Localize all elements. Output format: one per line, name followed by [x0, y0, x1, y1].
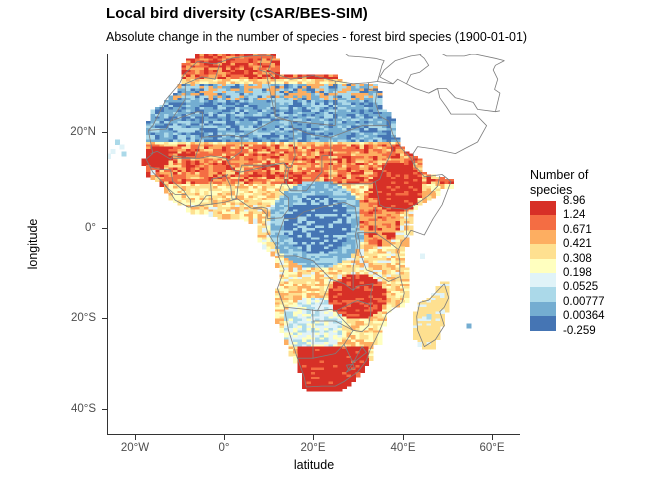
- africa-raster-map: [108, 54, 520, 434]
- raster-cell: [146, 172, 151, 177]
- raster-cell: [248, 219, 253, 224]
- raster-cell: [213, 212, 218, 217]
- raster-cell: [391, 302, 396, 307]
- raster-cell: [435, 191, 440, 196]
- plot-root: Local bird diversity (cSAR/BES-SIM) Abso…: [0, 0, 672, 480]
- raster-cell: [208, 212, 213, 217]
- map-panel: [108, 54, 520, 434]
- raster-cell: [275, 263, 280, 268]
- raster-cell: [253, 219, 258, 224]
- raster-cell: [271, 251, 276, 256]
- raster-cell: [409, 219, 414, 224]
- raster-cell: [191, 209, 196, 214]
- raster-cell: [386, 307, 391, 312]
- page-title: Local bird diversity (cSAR/BES-SIM): [106, 5, 368, 22]
- raster-cell: [200, 209, 205, 214]
- raster-cell: [142, 161, 147, 166]
- raster-cell: [222, 214, 227, 219]
- raster-cell: [280, 328, 285, 333]
- raster-cell: [431, 193, 436, 198]
- raster-cell: [226, 214, 231, 219]
- raster-cell: [244, 216, 249, 221]
- page-subtitle: Absolute change in the number of species…: [106, 30, 527, 44]
- raster-cell: [275, 319, 280, 324]
- raster-cell: [195, 209, 200, 214]
- raster-cell: [262, 244, 267, 249]
- raster-cell: [186, 207, 191, 212]
- raster-cell: [231, 214, 236, 219]
- raster-cell: [257, 237, 262, 242]
- raster-cell: [266, 247, 271, 252]
- raster-cell: [404, 298, 409, 303]
- raster-cell: [151, 175, 156, 180]
- raster-cell: [240, 214, 245, 219]
- raster-cell: [404, 242, 409, 247]
- raster-cell: [235, 214, 240, 219]
- raster-cell: [440, 184, 445, 189]
- raster-cell: [204, 209, 209, 214]
- raster-cell: [217, 214, 222, 219]
